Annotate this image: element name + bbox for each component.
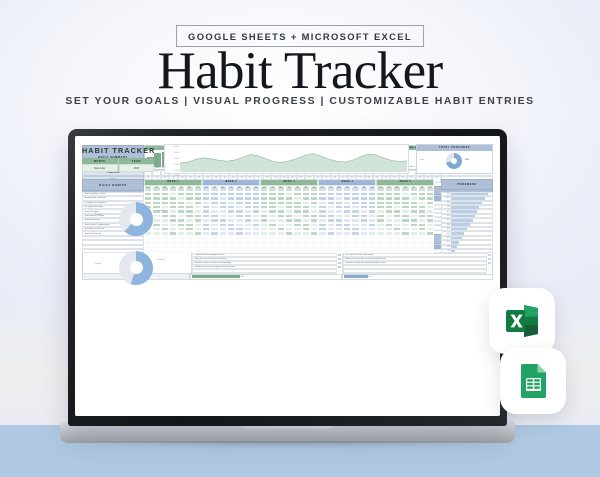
habit-day-cell[interactable] (210, 249, 218, 253)
progress-percent: 80% (241, 276, 244, 278)
habit-day-cell[interactable] (343, 249, 351, 253)
habit-day-cell[interactable] (426, 249, 434, 253)
sheet-title: HABIT TRACKER (82, 146, 155, 155)
progress-percent: 40% (368, 276, 371, 278)
sheets-icon (513, 361, 553, 401)
donut-legend-completed: Completed (157, 259, 165, 261)
habit-day-cell[interactable] (393, 249, 401, 253)
habit-day-cell[interactable] (277, 249, 285, 253)
habit-day-cell[interactable] (376, 249, 384, 253)
donut-legend-pending: Pending (95, 263, 101, 265)
laptop-shadow (72, 441, 503, 449)
year-cell[interactable]: YEAR 2025 (119, 158, 155, 172)
habit-day-cell[interactable] (410, 249, 418, 253)
page-title: Habit Tracker (0, 43, 600, 100)
year-value[interactable]: 2025 (119, 164, 155, 172)
progress-header: PROGRESS (441, 179, 493, 192)
week-header: WEEK 1 (144, 179, 202, 186)
habit-day-cell[interactable] (285, 249, 293, 253)
weekly-habits-donut-wrap: PendingCompleted (83, 196, 191, 224)
monthly-habits-donut-wrap: PendingCompleted (83, 245, 191, 273)
laptop-screen: HABIT TRACKER MONTH November YEAR 2025 (75, 136, 500, 416)
daily-habits-header-label: DAILY HABITS (82, 179, 144, 191)
total-progress-percent: 72% (465, 159, 469, 161)
habit-day-cell[interactable] (260, 249, 268, 253)
month-cell[interactable]: MONTH November (82, 158, 118, 172)
spreadsheet[interactable]: HABIT TRACKER MONTH November YEAR 2025 (75, 136, 500, 416)
habit-day-cell[interactable] (360, 249, 368, 253)
total-progress-legend: Done (420, 159, 424, 161)
habit-day-cell[interactable] (302, 249, 310, 253)
habit-day-cell[interactable] (385, 249, 393, 253)
trend-chart-y-axis: 100.00%80.00%60.00%40.00%20.00%0.00% (167, 147, 180, 173)
habit-day-cell[interactable] (252, 249, 260, 253)
poster-stage: GOOGLE SHEETS + MICROSOFT EXCEL Habit Tr… (0, 0, 600, 477)
donut-legend-pending: Pending (95, 214, 101, 216)
habit-day-cell[interactable] (418, 249, 426, 253)
habit-day-cell[interactable] (318, 249, 326, 253)
habit-day-cell[interactable] (268, 249, 276, 253)
total-progress-panel: TOTAL PROGRESS Done 72% (416, 144, 493, 174)
habit-day-cell[interactable] (351, 249, 359, 253)
habit-day-cell[interactable] (368, 249, 376, 253)
daily-habits-header: DAILY HABITS (82, 179, 144, 192)
habit-day-cell[interactable] (293, 249, 301, 253)
google-sheets-icon-card[interactable] (500, 348, 566, 414)
habit-day-cell[interactable] (219, 249, 227, 253)
week-title-row: DAILY HABITS WEEK 1WEEK 2WEEK 3WEEK 4WEE… (82, 179, 493, 192)
habit-day-cell[interactable] (327, 249, 335, 253)
progress-header-label: PROGRESS (441, 179, 493, 190)
habit-day-cell[interactable] (227, 249, 235, 253)
week-header: WEEK 5 (376, 179, 434, 186)
monthly-habits-donut-chart (119, 251, 153, 285)
total-progress-donut-chart (446, 153, 462, 169)
laptop-lid: HABIT TRACKER MONTH November YEAR 2025 (68, 129, 507, 426)
habit-day-cell[interactable] (401, 249, 409, 253)
overall-trend-chart: 100.00%80.00%60.00%40.00%20.00%0.00% (164, 144, 409, 174)
bar (154, 153, 161, 167)
weekly-habits-donut-chart (119, 202, 153, 236)
habit-day-cell[interactable] (335, 249, 343, 253)
excel-icon-card[interactable] (489, 288, 555, 354)
habit-day-cell[interactable] (194, 249, 202, 253)
week-header: WEEK 2 (202, 179, 260, 186)
laptop-mockup: HABIT TRACKER MONTH November YEAR 2025 (60, 129, 515, 439)
habit-day-cell[interactable] (202, 249, 210, 253)
week-header: WEEK 4 (318, 179, 376, 186)
footer-progress-bar: 40% (342, 274, 494, 280)
page-tagline: SET YOUR GOALS | VISUAL PROGRESS | CUSTO… (0, 96, 600, 107)
month-year-block[interactable]: MONTH November YEAR 2025 (82, 158, 154, 172)
week-titles: WEEK 1WEEK 2WEEK 3WEEK 4WEEK 5MONTUEWEDT… (144, 179, 441, 192)
donut-legend-completed: Completed (157, 210, 165, 212)
footer-progress-bar: 80% (190, 274, 342, 280)
habit-day-cell[interactable] (244, 249, 252, 253)
habit-progress-cell: 9% (441, 249, 493, 253)
progress-fill (344, 275, 368, 278)
habit-day-cell[interactable] (310, 249, 318, 253)
trend-chart-plot (180, 146, 407, 172)
excel-icon (502, 301, 542, 341)
progress-fill (192, 275, 240, 278)
month-value[interactable]: November (82, 164, 118, 172)
habit-day-cell[interactable] (235, 249, 243, 253)
week-header: WEEK 3 (260, 179, 318, 186)
